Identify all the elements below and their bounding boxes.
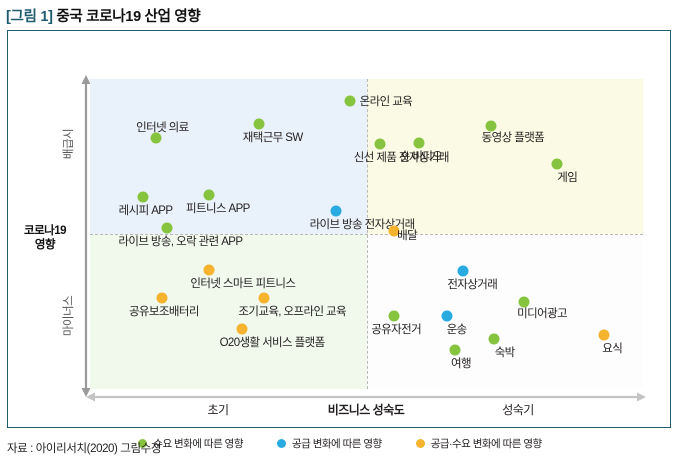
data-point-demand [552, 159, 563, 170]
legend-item-supply: 공급 변화에 따른 영향 [277, 436, 382, 451]
data-point-demand [375, 139, 386, 150]
x-axis-label-mature: 성숙기 [458, 401, 578, 418]
data-point-label: 미디어광고 [517, 305, 567, 321]
legend-item-supply-demand: 공급·수요 변화에 따른 영향 [416, 436, 542, 451]
quadrant-bottom-right [367, 234, 644, 389]
x-axis-label-early: 초기 [158, 401, 278, 418]
data-point-label: 공유보조배터리 [129, 303, 199, 319]
data-point-label: 온라인 교육 [360, 93, 413, 109]
data-point-label: 여행 [451, 355, 471, 371]
data-point-label: 재택근무 SW [243, 129, 303, 145]
data-point-demand [449, 345, 460, 356]
y-axis-top-label: 배급시 [60, 114, 76, 174]
data-point-demand [253, 118, 264, 129]
data-point-supply [441, 311, 452, 322]
data-point-label: 라이브 방송, 오락 관련 APP [118, 233, 242, 249]
data-point-demand [344, 95, 355, 106]
y-axis-title-line1: 코로나19 [12, 224, 78, 238]
figure-tag: [그림 1] [6, 9, 53, 25]
data-point-supply-demand [237, 323, 248, 334]
data-point-demand [488, 334, 499, 345]
data-point-supply-demand [203, 264, 214, 275]
y-axis-title-line2: 영향 [12, 238, 78, 252]
data-point-demand [203, 190, 214, 201]
data-point-label: 전자상거래 [447, 276, 497, 292]
page-title: [그림 1] 중국 코로나19 산업 영향 [6, 5, 200, 26]
data-point-label: 동영상 플랫폼 [482, 129, 544, 145]
data-point-label: 인터넷 스마트 피트니스 [190, 275, 295, 291]
data-point-demand [389, 311, 400, 322]
data-point-label: 인터넷 의료 [136, 119, 189, 135]
legend-swatch-icon [277, 439, 286, 448]
plot-area: 인터넷 의료재택근무 SW온라인 교육신선 제품 전자상거래레시피 APP피트니… [90, 79, 643, 389]
y-axis-title: 코로나19 영향 [12, 224, 78, 253]
data-point-label: 게임 [557, 169, 577, 185]
data-point-demand [137, 191, 148, 202]
data-point-label: 운송 [447, 321, 467, 337]
source-note: 자료 : 아이리서치(2020) 그림수정 [7, 440, 161, 456]
data-point-demand [414, 137, 425, 148]
data-point-supply [458, 266, 469, 277]
data-point-label: 요식 [602, 340, 622, 356]
y-axis-bottom-label: 마이너스 [60, 284, 76, 348]
data-point-supply-demand [599, 329, 610, 340]
data-point-label: 조기교육, 오프라인 교육 [238, 303, 346, 319]
data-point-label: O20생활 서비스 플랫폼 [220, 334, 325, 350]
data-point-supply [331, 205, 342, 216]
chart-frame: 배급시 마이너스 코로나19 영향 인터넷 의료재택근무 SW온라인 교육신선 … [7, 30, 671, 428]
data-point-label: 숏 비디오 [400, 148, 443, 164]
data-point-label: 숙박 [495, 344, 515, 360]
data-point-supply-demand [259, 292, 270, 303]
data-point-label: 배달 [397, 227, 417, 243]
data-point-label: 레시피 APP [119, 202, 173, 218]
legend-label: 공급·수요 변화에 따른 영향 [431, 436, 542, 451]
data-point-label: 공유자전거 [371, 321, 421, 337]
legend-swatch-icon [416, 439, 425, 448]
legend-label: 수요 변화에 따른 영향 [153, 436, 243, 451]
data-point-demand [162, 222, 173, 233]
legend-label: 공급 변화에 따른 영향 [292, 436, 382, 451]
figure-title-text: 중국 코로나19 산업 영향 [56, 9, 200, 25]
x-axis-title: 비즈니스 성숙도 [306, 401, 426, 418]
data-point-label: 피트니스 APP [186, 200, 250, 216]
quadrant-divider-vertical [367, 79, 368, 389]
data-point-supply-demand [156, 292, 167, 303]
